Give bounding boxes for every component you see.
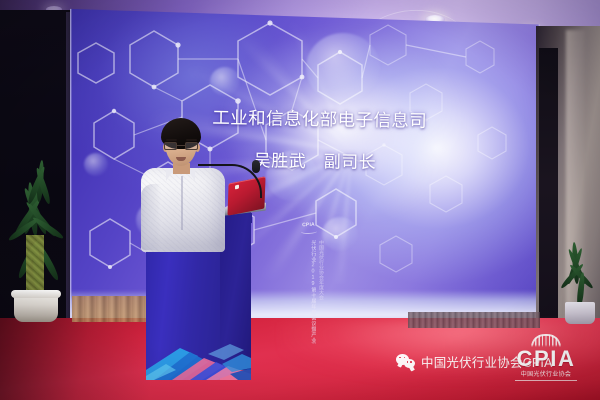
wechat-bubble-small [404, 359, 415, 369]
screen-title-line2: 吴胜武 副司长 [254, 152, 532, 173]
bokeh-orb [322, 217, 358, 251]
podium-ribbon-pattern-icon [146, 318, 251, 380]
stage-base-skirt-right [408, 312, 540, 328]
bokeh-orb [306, 33, 380, 103]
glasses-bridge [177, 145, 185, 146]
cpia-logo-rule [515, 380, 577, 381]
shirt-placket [181, 176, 183, 230]
glasses-lens-right [185, 142, 198, 150]
speaker-eyebrow-right [186, 139, 197, 141]
speaker-eyebrow-left [166, 139, 177, 141]
potted-plant-right-pot [565, 302, 595, 324]
podium-cpia-mark: CPIA [299, 222, 318, 237]
potted-plant-right-foliage [558, 228, 600, 306]
sunburst-crown-icon [531, 334, 561, 347]
wechat-icon [396, 354, 416, 370]
speaker-arm-shading [141, 184, 161, 250]
podium-geometric-graphics [146, 318, 251, 380]
right-doorway-gap [539, 48, 558, 318]
cpia-logo: CPIA 中国光伏行业协会 [508, 334, 584, 384]
bokeh-orb [84, 153, 108, 176]
cpia-wordmark: CPIA [508, 348, 584, 370]
speaker-glasses-icon [164, 142, 198, 151]
conference-photo-scene: 工业和信息化部电子信息司 吴胜武 副司长 [0, 0, 600, 400]
microphone-capsule-icon [252, 160, 260, 173]
potted-plant-left-trunk [26, 235, 44, 295]
cpia-subtitle: 中国光伏行业协会 [508, 372, 584, 378]
speaker-figure [128, 118, 238, 250]
glasses-lens-left [164, 142, 177, 150]
podium-cpia-text: CPIA [302, 222, 315, 228]
podium-cpia-arc-icon [301, 229, 317, 235]
bokeh-orb [210, 67, 240, 96]
carpet-shadow-left [0, 318, 150, 400]
podium-vertical-text-secondary: 中国光伏行业协会年度大会 [310, 240, 324, 340]
potted-plant-left-pot-rim [11, 290, 61, 298]
screen-title-line1: 工业和信息化部电子信息司 [212, 109, 532, 132]
